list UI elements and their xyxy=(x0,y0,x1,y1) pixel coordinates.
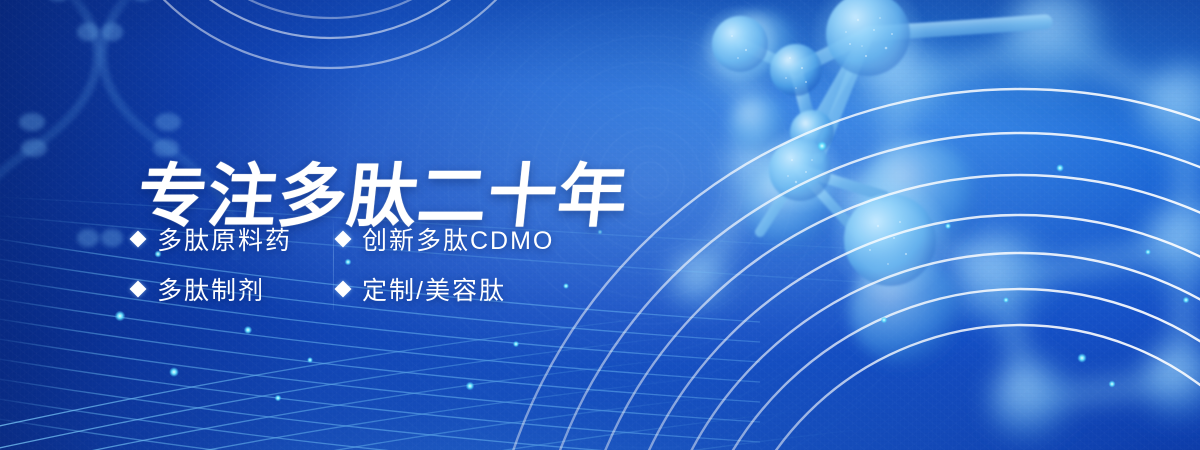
diamond-bullet-icon xyxy=(335,231,352,248)
feature-label: 多肽制剂 xyxy=(157,271,265,307)
feature-label: 定制/美容肽 xyxy=(362,271,506,307)
feature-row: 多肽原料药 创新多肽CDMO xyxy=(132,214,602,264)
diamond-bullet-icon xyxy=(130,281,147,298)
feature-label: 多肽原料药 xyxy=(157,221,292,257)
feature-item-peptide-cdmo[interactable]: 创新多肽CDMO xyxy=(337,221,587,257)
column-separator xyxy=(333,218,334,310)
banner-content: 专注多肽二十年 多肽原料药 创新多肽CDMO 多肽制剂 xyxy=(0,0,700,450)
feature-row: 多肽制剂 定制/美容肽 xyxy=(132,264,602,314)
feature-list: 多肽原料药 创新多肽CDMO 多肽制剂 定制/美容肽 xyxy=(132,214,602,314)
hero-banner: 专注多肽二十年 多肽原料药 创新多肽CDMO 多肽制剂 xyxy=(0,0,1200,450)
feature-item-custom-cosmetic-peptide[interactable]: 定制/美容肽 xyxy=(337,271,587,307)
diamond-bullet-icon xyxy=(130,231,147,248)
feature-label: 创新多肽CDMO xyxy=(362,221,554,257)
feature-item-peptide-formulation[interactable]: 多肽制剂 xyxy=(132,271,337,307)
feature-item-peptide-api[interactable]: 多肽原料药 xyxy=(132,221,337,257)
diamond-bullet-icon xyxy=(335,281,352,298)
